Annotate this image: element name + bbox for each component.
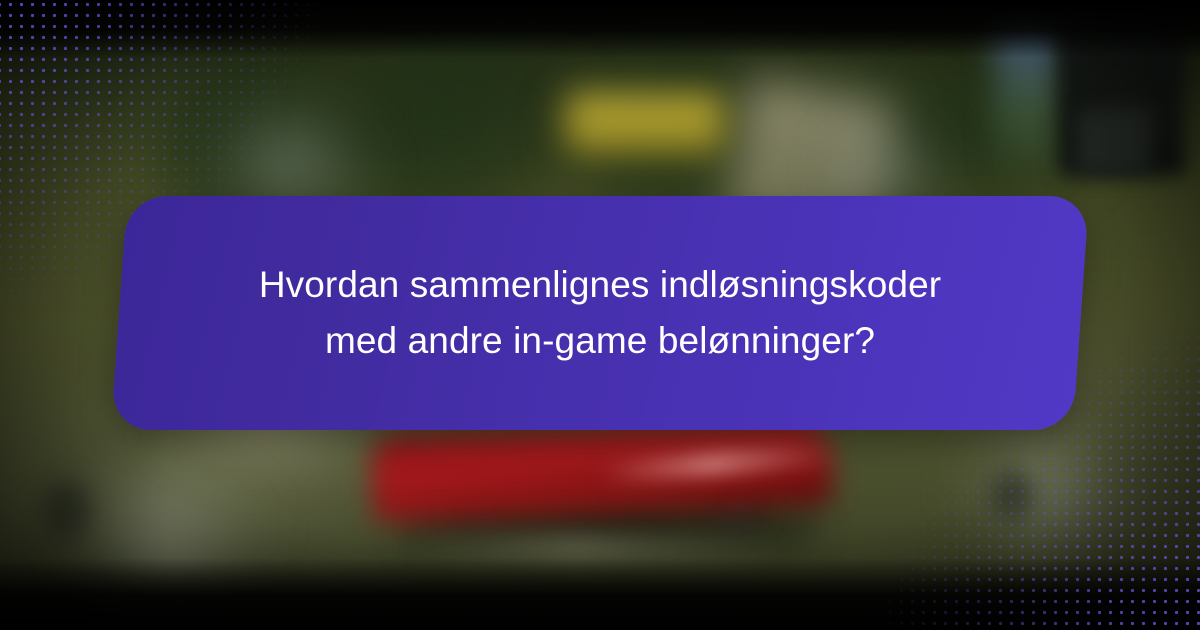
question-card-wrapper: Hvordan sammenlignes indløsningskoder me…	[0, 196, 1200, 430]
question-line-1: Hvordan sammenlignes indløsningskoder	[259, 264, 941, 306]
question-line-2: med andre in-game belønninger?	[325, 320, 875, 362]
screenshot-stage: Hvordan sammenlignes indløsningskoder me…	[0, 0, 1200, 630]
question-card: Hvordan sammenlignes indløsningskoder me…	[111, 196, 1089, 430]
letterbox-bar-top	[0, 0, 1200, 58]
letterbox-bar-bottom	[0, 558, 1200, 630]
question-text-block: Hvordan sammenlignes indløsningskoder me…	[119, 196, 1081, 430]
